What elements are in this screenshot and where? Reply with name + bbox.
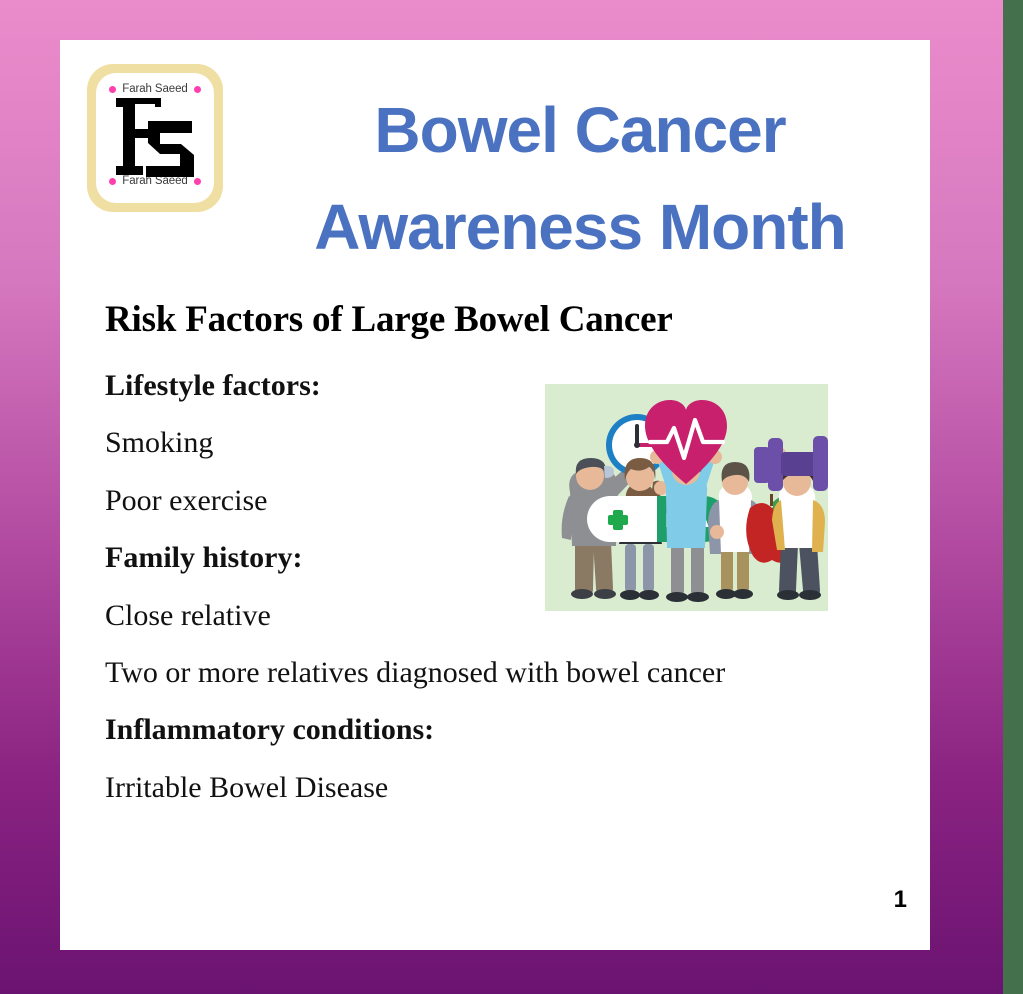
health-illustration: HEALTH	[545, 384, 828, 611]
list-item: Inflammatory conditions:	[105, 712, 895, 747]
background-right-strip	[1003, 0, 1023, 994]
slide-card: Farah Saeed Farah Saeed Bowel Cancer Awa…	[60, 40, 930, 950]
page-title-line-1: Bowel Cancer	[250, 82, 910, 179]
list-item: Two or more relatives diagnosed with bow…	[105, 655, 895, 690]
fs-monogram-icon	[96, 92, 214, 178]
slide-screenshot: Farah Saeed Farah Saeed Bowel Cancer Awa…	[0, 0, 1023, 994]
health-illustration-graphic: HEALTH	[545, 384, 828, 611]
page-title: Bowel Cancer Awareness Month	[250, 82, 910, 277]
page-number: 1	[894, 886, 907, 914]
list-item: Irritable Bowel Disease	[105, 770, 895, 805]
page-title-line-2: Awareness Month	[250, 179, 910, 276]
section-heading: Risk Factors of Large Bowel Cancer	[105, 298, 895, 341]
logo-badge: Farah Saeed Farah Saeed	[87, 64, 223, 212]
